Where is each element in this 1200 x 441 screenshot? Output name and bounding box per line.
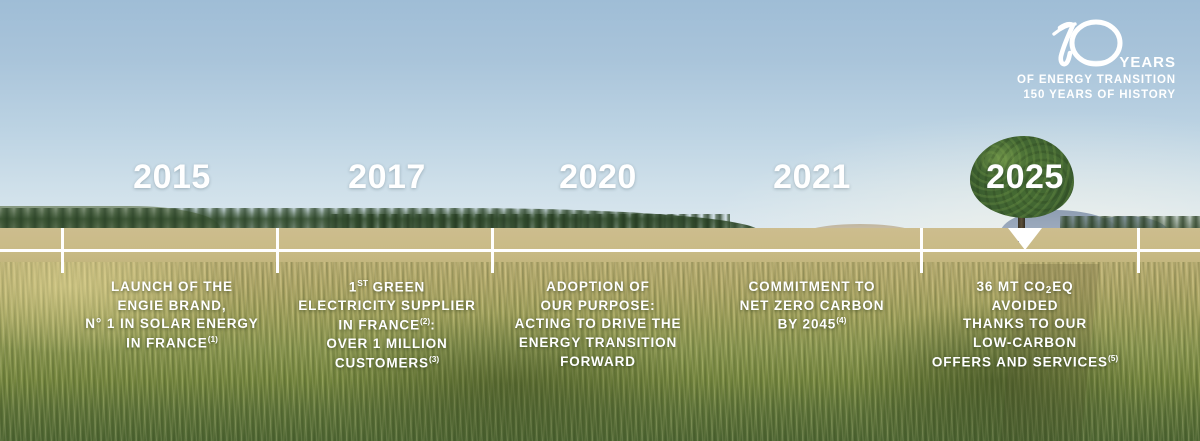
milestone-description-line: LOW-CARBON (825, 334, 1200, 353)
logo-tagline-history: 150 YEARS OF HISTORY (1023, 90, 1176, 102)
logo-tagline-energy-transition: OF ENERGY TRANSITION (1017, 75, 1176, 87)
anniversary-logo: YEARS OF ENERGY TRANSITION 150 YEARS OF … (1020, 18, 1182, 104)
milestone-2025: 202536 Mt CO2eqAVOIDEDTHANKS TO OURLOW-C… (825, 160, 1200, 372)
milestone-description-line: OFFERS AND SERVICES(5) (825, 353, 1200, 372)
milestone-description: 36 Mt CO2eqAVOIDEDTHANKS TO OURLOW-CARBO… (825, 278, 1200, 372)
milestone-description-line: FORWARD (398, 353, 798, 372)
milestone-year-label: 2025 (825, 160, 1200, 194)
milestone-description-line: AVOIDED (825, 297, 1200, 316)
milestone-description-line: THANKS TO OUR (825, 315, 1200, 334)
anniversary-timeline-banner: YEARS OF ENERGY TRANSITION 150 YEARS OF … (0, 0, 1200, 441)
logo-years-label: YEARS (1119, 55, 1176, 70)
ten-script-icon (1034, 18, 1130, 70)
milestone-description-line: ENERGY TRANSITION (398, 334, 798, 353)
milestone-description-line: 36 Mt CO2eq (825, 278, 1200, 297)
